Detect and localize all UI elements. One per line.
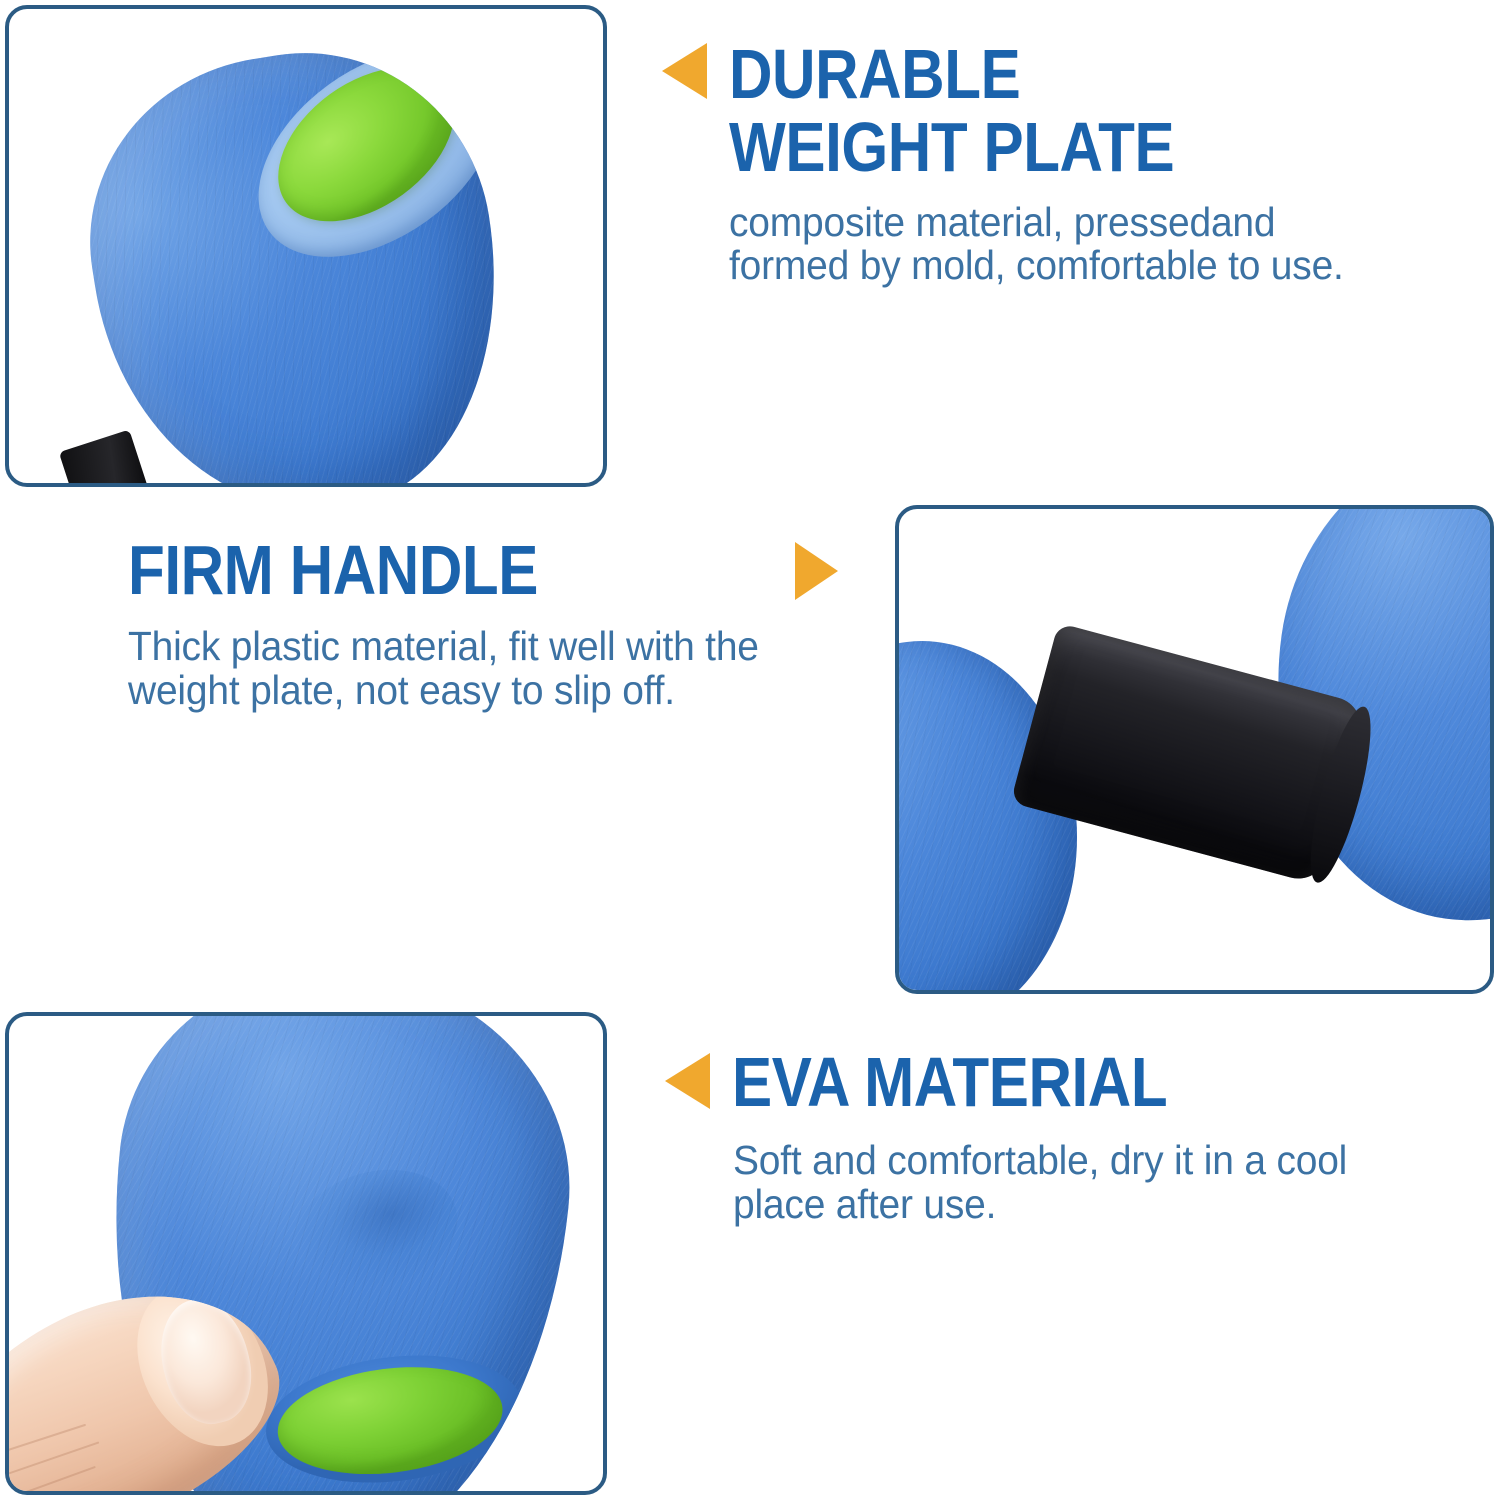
feature-block-firm-handle: FIRM HANDLE Thick plastic material, fit … (128, 534, 848, 713)
eva-material-photo-panel (5, 1012, 607, 1495)
weight-plate-body-shape (64, 27, 530, 483)
feature-heading: FIRM HANDLE (128, 534, 538, 607)
triangle-left-icon (665, 1053, 710, 1109)
feature-heading-row: DURABLE WEIGHT PLATE (662, 38, 1422, 184)
handle-photo (899, 509, 1490, 990)
feature-heading: DURABLE WEIGHT PLATE (729, 38, 1174, 184)
triangle-left-icon (662, 43, 707, 99)
product-feature-infographic: DURABLE WEIGHT PLATE composite material,… (0, 0, 1500, 1500)
feature-body-text: Soft and comfortable, dry it in a cool p… (733, 1139, 1436, 1227)
eva-material-photo (9, 1016, 603, 1491)
weight-plate-photo-panel (5, 5, 607, 487)
feature-block-durable-weight-plate: DURABLE WEIGHT PLATE composite material,… (662, 38, 1422, 288)
triangle-right-icon (795, 542, 838, 600)
feature-heading: EVA MATERIAL (732, 1046, 1167, 1119)
feature-block-eva-material: EVA MATERIAL Soft and comfortable, dry i… (665, 1046, 1445, 1227)
weight-plate-photo (9, 9, 603, 483)
feature-body-text: composite material, pressedand formed by… (729, 201, 1394, 289)
knuckle-crease (9, 1424, 86, 1463)
feature-heading-row: EVA MATERIAL (665, 1046, 1445, 1119)
feature-heading-row: FIRM HANDLE (128, 534, 848, 607)
handle-stub-shape (59, 429, 153, 483)
feature-body-text: Thick plastic material, fit well with th… (128, 625, 793, 713)
foam-dent-shape (278, 1151, 472, 1311)
handle-photo-panel (895, 505, 1494, 994)
